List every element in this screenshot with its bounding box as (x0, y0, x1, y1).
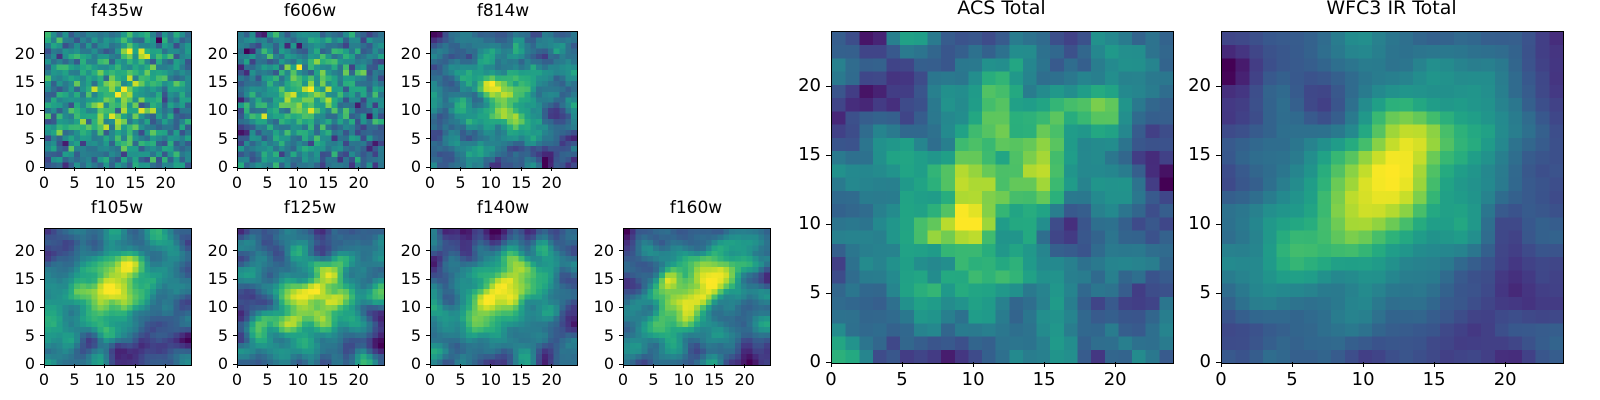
y-tick-f160w-3 (619, 279, 623, 280)
y-ticklabel-f105w-2: 10 (0, 299, 35, 315)
y-tick-wfc3_total-4 (1216, 86, 1221, 87)
heatmap-image-f814w (431, 32, 577, 168)
y-tick-f606w-4 (233, 53, 237, 54)
panel-f814w: f814w0510152005101520 (370, 3, 636, 199)
y-ticklabel-f105w-1: 5 (0, 328, 35, 344)
y-tick-f140w-2 (426, 307, 430, 308)
y-tick-f160w-2 (619, 307, 623, 308)
heatmap-image-f435w (45, 32, 191, 168)
x-ticklabel-acs_total-2: 10 (953, 371, 993, 389)
y-tick-acs_total-4 (826, 86, 831, 87)
y-tick-f435w-1 (40, 138, 44, 139)
y-tick-wfc3_total-2 (1216, 224, 1221, 225)
y-tick-f606w-3 (233, 82, 237, 83)
heatmap-image-f606w (238, 32, 384, 168)
x-tick-f606w-0 (237, 167, 238, 171)
y-tick-acs_total-3 (826, 155, 831, 156)
x-ticklabel-f814w-4: 20 (532, 175, 572, 191)
y-tick-f125w-1 (233, 335, 237, 336)
y-tick-f160w-0 (619, 364, 623, 365)
y-tick-acs_total-0 (826, 362, 831, 363)
y-ticklabel-f435w-2: 10 (0, 102, 35, 118)
y-ticklabel-f435w-1: 5 (0, 131, 35, 147)
y-tick-f606w-2 (233, 110, 237, 111)
y-ticklabel-f160w-3: 15 (563, 271, 614, 287)
y-ticklabel-f140w-2: 10 (370, 299, 421, 315)
y-tick-f814w-1 (426, 138, 430, 139)
y-ticklabel-f814w-0: 0 (370, 159, 421, 175)
x-tick-f435w-4 (165, 167, 166, 171)
heatmap-image-wfc3_total (1222, 32, 1563, 363)
y-tick-f125w-2 (233, 307, 237, 308)
y-tick-f125w-4 (233, 250, 237, 251)
x-tick-wfc3_total-2 (1363, 362, 1364, 367)
x-tick-f140w-3 (521, 364, 522, 368)
x-tick-f814w-0 (430, 167, 431, 171)
y-tick-f140w-0 (426, 364, 430, 365)
y-tick-f160w-1 (619, 335, 623, 336)
y-tick-f140w-1 (426, 335, 430, 336)
y-ticklabel-f160w-0: 0 (563, 356, 614, 372)
y-ticklabel-f160w-4: 20 (563, 243, 614, 259)
x-tick-acs_total-4 (1115, 362, 1116, 367)
x-tick-acs_total-0 (831, 362, 832, 367)
y-ticklabel-f125w-4: 20 (177, 243, 228, 259)
y-tick-f814w-4 (426, 53, 430, 54)
heatmap-image-f140w (431, 229, 577, 365)
y-ticklabel-f105w-4: 20 (0, 243, 35, 259)
y-ticklabel-f125w-1: 5 (177, 328, 228, 344)
x-tick-f435w-3 (135, 167, 136, 171)
heatmap-image-f105w (45, 229, 191, 365)
y-ticklabel-f814w-3: 15 (370, 74, 421, 90)
y-tick-acs_total-2 (826, 224, 831, 225)
y-tick-f606w-0 (233, 167, 237, 168)
y-ticklabel-f814w-4: 20 (370, 46, 421, 62)
y-tick-f125w-3 (233, 279, 237, 280)
heatmap-axes-f814w (430, 31, 578, 169)
y-tick-f435w-4 (40, 53, 44, 54)
x-tick-f105w-3 (135, 364, 136, 368)
heatmap-axes-f105w (44, 228, 192, 366)
panel-title-f814w: f814w (370, 3, 636, 20)
x-tick-f140w-2 (490, 364, 491, 368)
x-tick-f814w-4 (551, 167, 552, 171)
heatmap-axes-acs_total (831, 31, 1174, 364)
heatmap-axes-wfc3_total (1221, 31, 1564, 364)
y-ticklabel-f435w-3: 15 (0, 74, 35, 90)
x-tick-f160w-2 (683, 364, 684, 368)
x-tick-f140w-4 (551, 364, 552, 368)
x-ticklabel-wfc3_total-2: 10 (1343, 371, 1383, 389)
y-ticklabel-f435w-4: 20 (0, 46, 35, 62)
y-ticklabel-f105w-3: 15 (0, 271, 35, 287)
y-tick-f814w-0 (426, 167, 430, 168)
y-tick-f814w-3 (426, 82, 430, 83)
y-ticklabel-f140w-3: 15 (370, 271, 421, 287)
y-ticklabel-f606w-3: 15 (177, 74, 228, 90)
figure-canvas: f435w0510152005101520f606w05101520051015… (0, 0, 1600, 400)
x-ticklabel-acs_total-1: 5 (882, 371, 922, 389)
y-ticklabel-f140w-1: 5 (370, 328, 421, 344)
heatmap-image-f125w (238, 229, 384, 365)
y-tick-f105w-0 (40, 364, 44, 365)
y-ticklabel-acs_total-2: 10 (771, 215, 821, 233)
x-tick-f606w-1 (267, 167, 268, 171)
x-tick-f105w-4 (165, 364, 166, 368)
y-ticklabel-f606w-2: 10 (177, 102, 228, 118)
y-ticklabel-f606w-4: 20 (177, 46, 228, 62)
y-tick-f435w-3 (40, 82, 44, 83)
x-ticklabel-wfc3_total-3: 15 (1414, 371, 1454, 389)
y-ticklabel-f606w-0: 0 (177, 159, 228, 175)
y-tick-f435w-0 (40, 167, 44, 168)
y-tick-f435w-2 (40, 110, 44, 111)
x-tick-f140w-0 (430, 364, 431, 368)
y-ticklabel-acs_total-3: 15 (771, 146, 821, 164)
y-tick-f606w-1 (233, 138, 237, 139)
heatmap-axes-f140w (430, 228, 578, 366)
x-tick-f435w-1 (74, 167, 75, 171)
y-ticklabel-f606w-1: 5 (177, 131, 228, 147)
x-tick-f606w-2 (297, 167, 298, 171)
y-tick-f125w-0 (233, 364, 237, 365)
x-tick-f814w-1 (460, 167, 461, 171)
x-ticklabel-wfc3_total-1: 5 (1272, 371, 1312, 389)
y-ticklabel-acs_total-1: 5 (771, 284, 821, 302)
x-tick-f125w-2 (297, 364, 298, 368)
x-tick-wfc3_total-4 (1505, 362, 1506, 367)
y-ticklabel-f125w-2: 10 (177, 299, 228, 315)
x-tick-f606w-4 (358, 167, 359, 171)
x-ticklabel-wfc3_total-0: 0 (1201, 371, 1241, 389)
y-ticklabel-f160w-2: 10 (563, 299, 614, 315)
y-ticklabel-wfc3_total-0: 0 (1161, 353, 1211, 371)
heatmap-axes-f125w (237, 228, 385, 366)
y-tick-f160w-4 (619, 250, 623, 251)
y-ticklabel-f140w-0: 0 (370, 356, 421, 372)
x-tick-f814w-3 (521, 167, 522, 171)
y-ticklabel-f160w-1: 5 (563, 328, 614, 344)
x-tick-f160w-1 (653, 364, 654, 368)
x-tick-f435w-0 (44, 167, 45, 171)
panel-title-wfc3_total: WFC3 IR Total (1161, 0, 1600, 18)
y-tick-f105w-2 (40, 307, 44, 308)
y-ticklabel-f125w-0: 0 (177, 356, 228, 372)
x-tick-f105w-0 (44, 364, 45, 368)
x-tick-f160w-3 (714, 364, 715, 368)
heatmap-image-acs_total (832, 32, 1173, 363)
x-tick-f105w-2 (104, 364, 105, 368)
y-ticklabel-acs_total-4: 20 (771, 77, 821, 95)
x-tick-f140w-1 (460, 364, 461, 368)
x-tick-f125w-4 (358, 364, 359, 368)
y-tick-f105w-3 (40, 279, 44, 280)
y-ticklabel-wfc3_total-4: 20 (1161, 77, 1211, 95)
y-ticklabel-acs_total-0: 0 (771, 353, 821, 371)
y-ticklabel-f105w-0: 0 (0, 356, 35, 372)
x-tick-f814w-2 (490, 167, 491, 171)
x-tick-f606w-3 (328, 167, 329, 171)
y-tick-f105w-1 (40, 335, 44, 336)
y-tick-wfc3_total-1 (1216, 293, 1221, 294)
x-ticklabel-wfc3_total-4: 20 (1485, 371, 1525, 389)
y-tick-f140w-3 (426, 279, 430, 280)
y-ticklabel-f140w-4: 20 (370, 243, 421, 259)
y-tick-acs_total-1 (826, 293, 831, 294)
x-tick-f125w-0 (237, 364, 238, 368)
x-tick-f125w-1 (267, 364, 268, 368)
x-tick-acs_total-3 (1044, 362, 1045, 367)
y-tick-f814w-2 (426, 110, 430, 111)
y-ticklabel-f435w-0: 0 (0, 159, 35, 175)
y-tick-wfc3_total-0 (1216, 362, 1221, 363)
y-tick-wfc3_total-3 (1216, 155, 1221, 156)
heatmap-axes-f606w (237, 31, 385, 169)
x-tick-wfc3_total-1 (1292, 362, 1293, 367)
x-tick-f125w-3 (328, 364, 329, 368)
x-tick-wfc3_total-0 (1221, 362, 1222, 367)
y-tick-f140w-4 (426, 250, 430, 251)
x-ticklabel-f160w-4: 20 (725, 372, 765, 388)
x-tick-f435w-2 (104, 167, 105, 171)
x-ticklabel-acs_total-0: 0 (811, 371, 851, 389)
heatmap-image-f160w (624, 229, 770, 365)
panel-wfc3_total: WFC3 IR Total0510152005101520 (1161, 0, 1600, 394)
y-ticklabel-f814w-1: 5 (370, 131, 421, 147)
y-ticklabel-wfc3_total-3: 15 (1161, 146, 1211, 164)
x-tick-f160w-0 (623, 364, 624, 368)
x-tick-f160w-4 (744, 364, 745, 368)
y-ticklabel-f125w-3: 15 (177, 271, 228, 287)
y-ticklabel-wfc3_total-2: 10 (1161, 215, 1211, 233)
x-ticklabel-acs_total-4: 20 (1095, 371, 1135, 389)
x-ticklabel-acs_total-3: 15 (1024, 371, 1064, 389)
heatmap-axes-f160w (623, 228, 771, 366)
x-tick-acs_total-1 (902, 362, 903, 367)
x-tick-acs_total-2 (973, 362, 974, 367)
y-tick-f105w-4 (40, 250, 44, 251)
x-tick-wfc3_total-3 (1434, 362, 1435, 367)
x-tick-f105w-1 (74, 364, 75, 368)
heatmap-axes-f435w (44, 31, 192, 169)
y-ticklabel-f814w-2: 10 (370, 102, 421, 118)
y-ticklabel-wfc3_total-1: 5 (1161, 284, 1211, 302)
